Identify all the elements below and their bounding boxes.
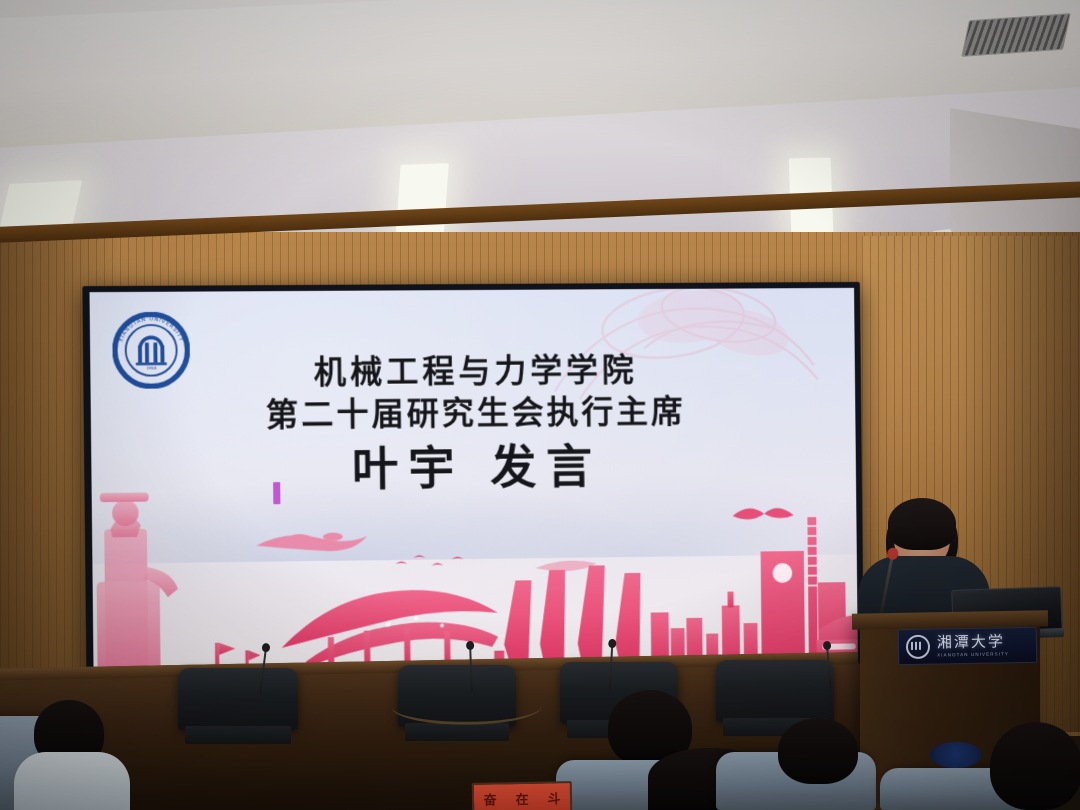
auditorium-photo-scene: XIANGTAN UNIVERSITY 1958 机械工程与力学学院 第二十届研… <box>0 0 1080 810</box>
nameplate-char: 在 <box>515 788 528 807</box>
audience-member-shirt <box>14 752 130 810</box>
speaker-hair <box>888 498 956 550</box>
ceiling-air-vent-icon <box>961 13 1071 57</box>
pink-skyline-illustration <box>91 455 858 675</box>
statue-silhouette <box>96 492 179 671</box>
monument-pillars <box>503 565 641 665</box>
nameplate-char: 斗 <box>547 788 560 807</box>
led-ceiling-panel <box>395 163 449 243</box>
head-table-chair[interactable] <box>716 660 834 722</box>
seat-back-badge <box>930 742 982 768</box>
podium-plate-english: XIANGTAN UNIVERSITY <box>937 652 1009 658</box>
slide-line-college: 机械工程与力学学院 <box>90 347 855 395</box>
projection-screen: XIANGTAN UNIVERSITY 1958 机械工程与力学学院 第二十届研… <box>82 282 864 680</box>
screen-surface: XIANGTAN UNIVERSITY 1958 机械工程与力学学院 第二十届研… <box>90 288 858 675</box>
nameplate-char: 奋 <box>483 789 496 808</box>
audience-member <box>778 718 858 784</box>
head-table-chair[interactable] <box>178 668 298 730</box>
pavilion-silhouette <box>214 589 498 669</box>
podium-nameplate: 湘潭大学 XIANGTAN UNIVERSITY <box>898 627 1038 665</box>
podium-seal-icon <box>906 635 930 659</box>
cloud-ribbon <box>256 530 597 575</box>
flying-birds <box>395 508 794 566</box>
red-nameplate-sign: 奋 在 斗 <box>472 781 573 810</box>
podium-plate-chinese: 湘潭大学 <box>937 634 1009 650</box>
slide-line-role: 第二十届研究生会执行主席 <box>91 389 856 438</box>
audience-member <box>990 722 1080 810</box>
